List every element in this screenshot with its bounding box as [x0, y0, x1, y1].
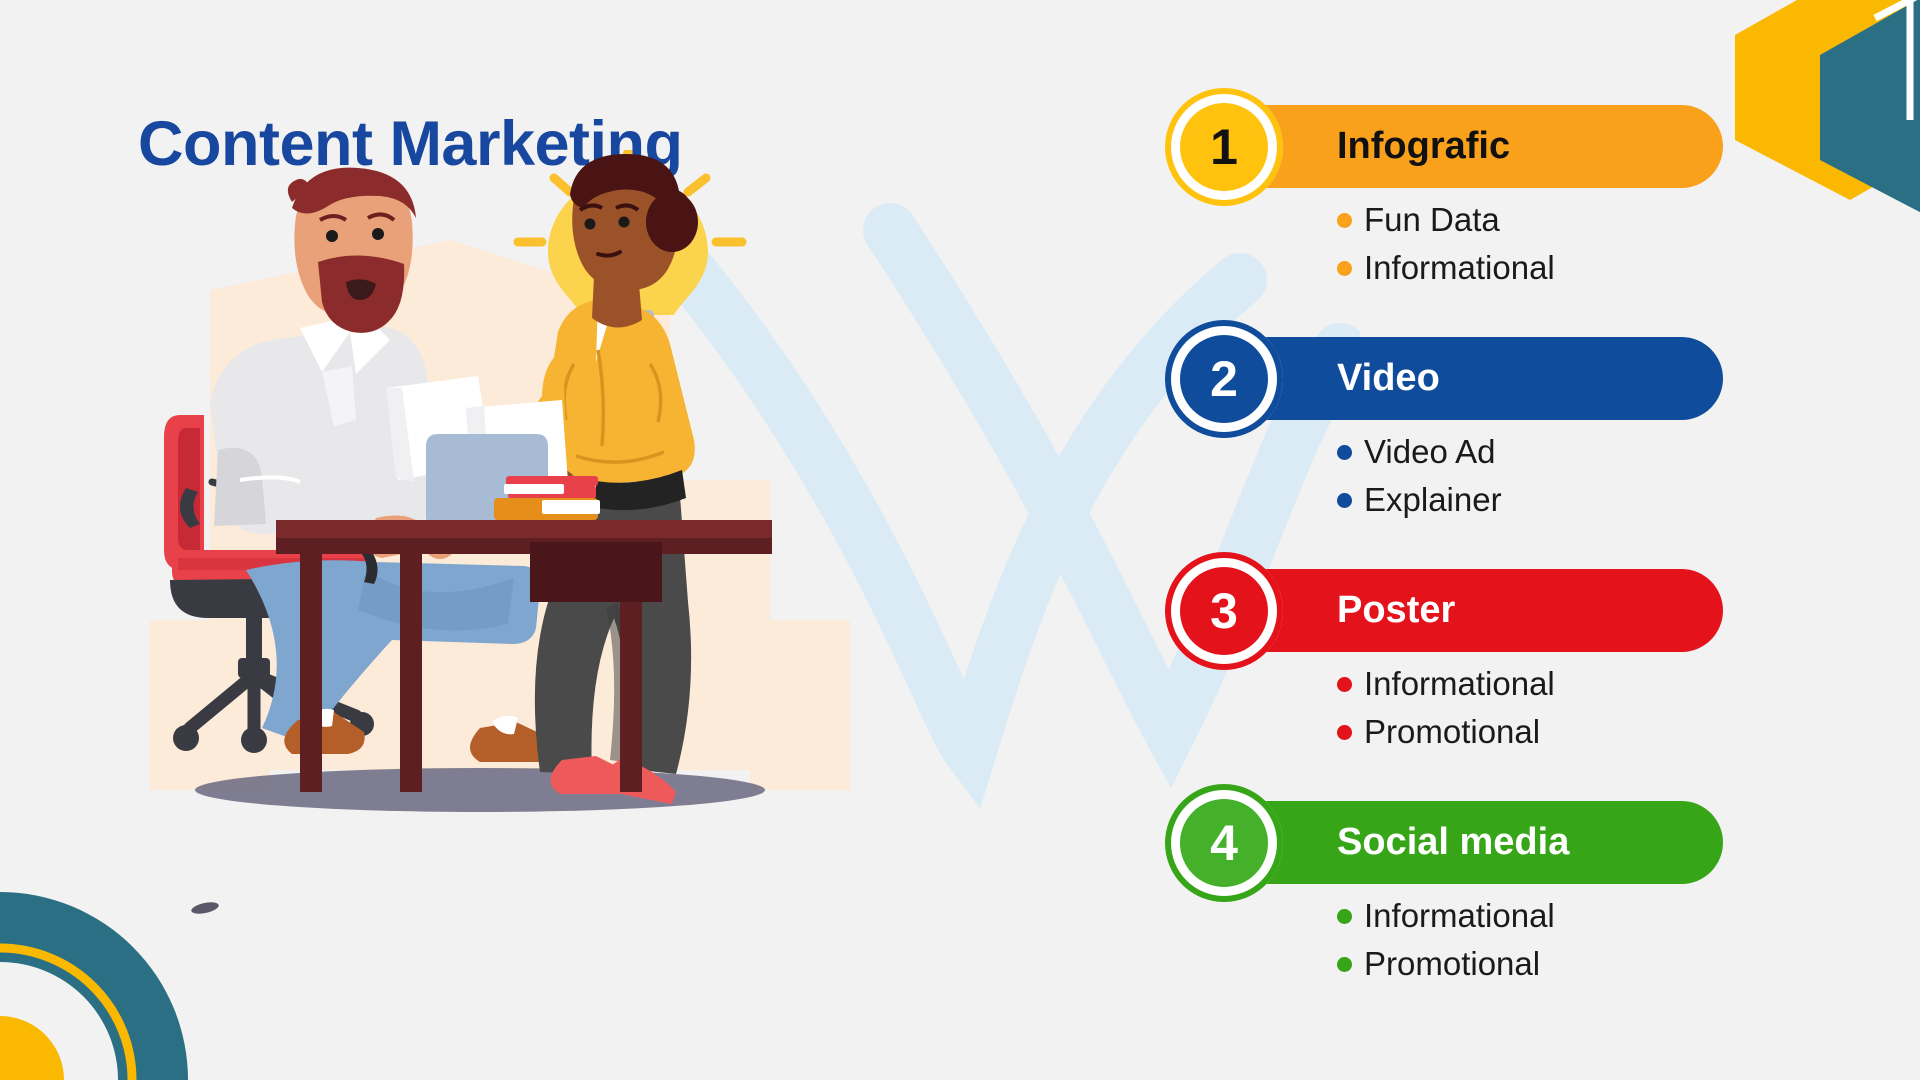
card-1-badge: 1 — [1165, 88, 1283, 206]
list-item: Promotional — [1337, 940, 1555, 988]
bullet-dot-icon — [1337, 677, 1352, 692]
list-item: Promotional — [1337, 708, 1555, 756]
list-item: Informational — [1337, 892, 1555, 940]
card-3-bar[interactable]: Poster — [1217, 569, 1723, 652]
content-type-list: Infografic 1 Fun Data Informational Vide… — [1165, 88, 1725, 1016]
card-4-bullets: Informational Promotional — [1337, 892, 1555, 988]
card-3-label: Poster — [1337, 589, 1455, 632]
card-2-badge: 2 — [1165, 320, 1283, 438]
card-1[interactable]: Infografic 1 Fun Data Informational — [1165, 88, 1725, 320]
card-2[interactable]: Video 2 Video Ad Explainer — [1165, 320, 1725, 552]
card-4[interactable]: Social media 4 Informational Promotional — [1165, 784, 1725, 1016]
bullet-dot-icon — [1337, 445, 1352, 460]
card-4-label: Social media — [1337, 821, 1569, 864]
floor-shadow — [195, 768, 765, 812]
list-item: Fun Data — [1337, 196, 1555, 244]
bullet-dot-icon — [1337, 909, 1352, 924]
card-2-label: Video — [1337, 357, 1440, 400]
card-2-ring — [1165, 320, 1283, 438]
card-1-ring — [1165, 88, 1283, 206]
card-4-ring — [1165, 784, 1283, 902]
card-1-bullets: Fun Data Informational — [1337, 196, 1555, 292]
card-4-bar[interactable]: Social media — [1217, 801, 1723, 884]
bullet-dot-icon — [1337, 213, 1352, 228]
bullet-dot-icon — [1337, 725, 1352, 740]
bullet-dot-icon — [1337, 493, 1352, 508]
office-team-illustration — [150, 150, 910, 940]
card-4-badge: 4 — [1165, 784, 1283, 902]
list-item: Informational — [1337, 244, 1555, 292]
card-1-label: Infografic — [1337, 125, 1510, 168]
card-3-ring — [1165, 552, 1283, 670]
card-3-bullets: Informational Promotional — [1337, 660, 1555, 756]
stacked-books — [494, 476, 600, 520]
list-item: Explainer — [1337, 476, 1502, 524]
bullet-dot-icon — [1337, 957, 1352, 972]
card-3[interactable]: Poster 3 Informational Promotional — [1165, 552, 1725, 784]
bullet-dot-icon — [1337, 261, 1352, 276]
card-1-bar[interactable]: Infografic — [1217, 105, 1723, 188]
card-3-badge: 3 — [1165, 552, 1283, 670]
list-item: Informational — [1337, 660, 1555, 708]
list-item: Video Ad — [1337, 428, 1502, 476]
card-2-bar[interactable]: Video — [1217, 337, 1723, 420]
card-2-bullets: Video Ad Explainer — [1337, 428, 1502, 524]
